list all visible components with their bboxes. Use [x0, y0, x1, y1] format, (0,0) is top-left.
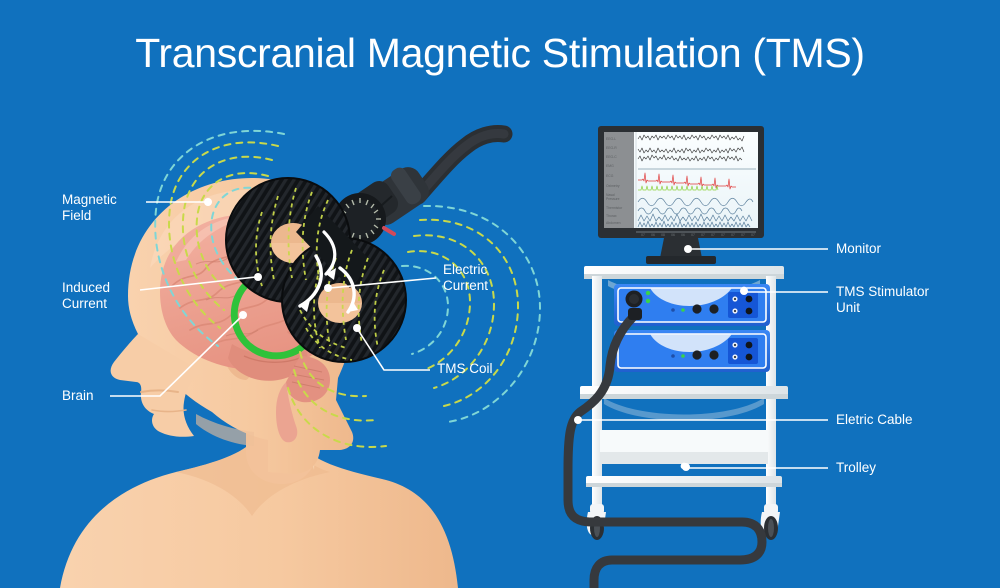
svg-text:EEG-R: EEG-R — [606, 146, 617, 150]
label-magnetic-field: Magnetic Field — [62, 192, 152, 224]
svg-text:07: 07 — [691, 233, 695, 237]
label-induced-current: Induced Current — [62, 280, 152, 312]
svg-text:06: 06 — [671, 233, 675, 237]
svg-text:EEG-L: EEG-L — [606, 137, 616, 141]
svg-text:Abdomen: Abdomen — [606, 221, 621, 225]
svg-text:07: 07 — [721, 233, 725, 237]
label-brain: Brain — [62, 388, 122, 404]
monitor[interactable]: EEG-L EEG-R EEG-C EMG ECG Oximetry Nasal… — [598, 126, 764, 264]
label-tms-coil: TMS Coil — [437, 361, 547, 377]
svg-text:EMG: EMG — [606, 164, 614, 168]
label-electric-current: Electric Current — [443, 262, 553, 294]
label-tms-stimulator-unit: TMS Stimulator Unit — [836, 284, 986, 316]
svg-text:07: 07 — [751, 233, 755, 237]
svg-text:07: 07 — [701, 233, 705, 237]
label-trolley: Trolley — [836, 460, 986, 476]
svg-text:EEG-C: EEG-C — [606, 155, 617, 159]
label-monitor: Monitor — [836, 241, 986, 257]
svg-text:06: 06 — [651, 233, 655, 237]
label-electric-cable: Eletric Cable — [836, 412, 986, 428]
svg-text:Pressure: Pressure — [606, 197, 620, 201]
svg-text:Oximetry: Oximetry — [606, 184, 620, 188]
svg-text:ECG: ECG — [606, 174, 614, 178]
illustration-canvas: Transcranial Magnetic Stimulation (TMS) — [0, 0, 1000, 588]
svg-text:07: 07 — [641, 233, 645, 237]
stimulator-unit-2[interactable] — [614, 330, 770, 372]
svg-text:Thorax: Thorax — [606, 214, 617, 218]
svg-text:07: 07 — [741, 233, 745, 237]
svg-text:08: 08 — [661, 233, 665, 237]
svg-text:07: 07 — [731, 233, 735, 237]
tms-stimulator-unit[interactable] — [614, 284, 770, 372]
svg-text:06: 06 — [681, 233, 685, 237]
svg-text:07: 07 — [711, 233, 715, 237]
svg-text:Thermistor: Thermistor — [606, 206, 623, 210]
